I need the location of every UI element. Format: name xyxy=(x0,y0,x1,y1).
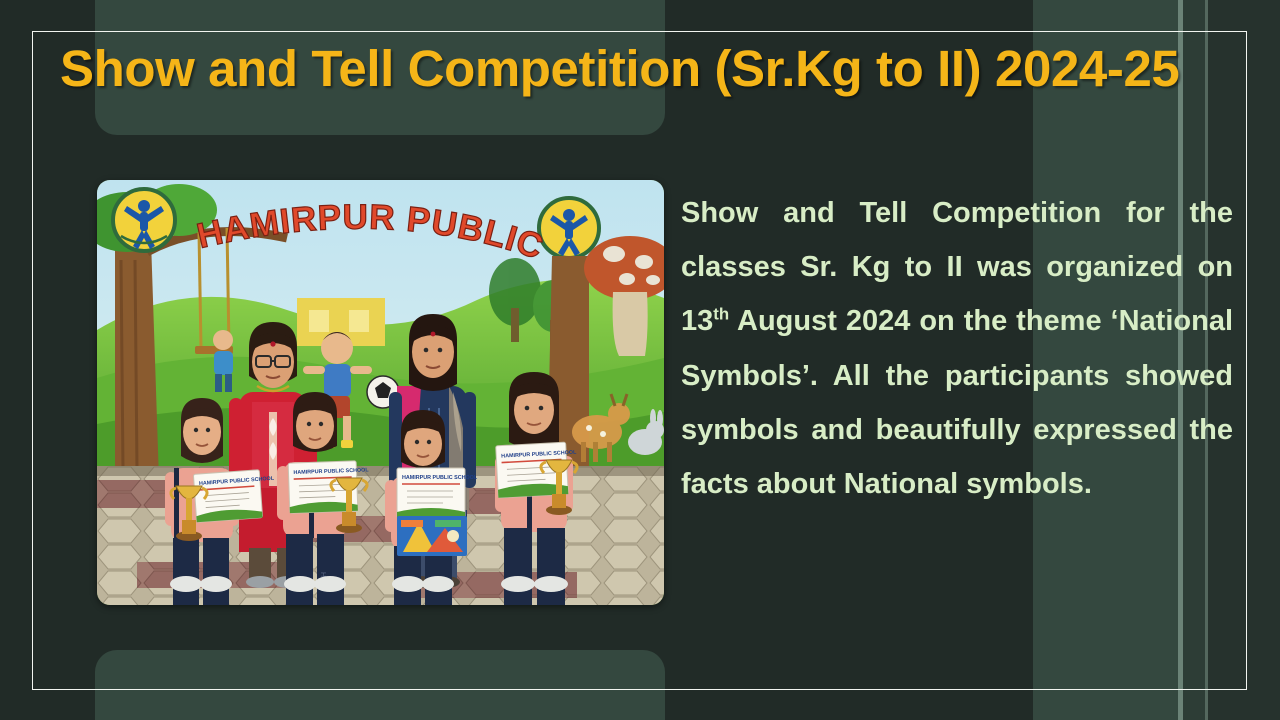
school-logo-left xyxy=(113,189,175,251)
page-title: Show and Tell Competition (Sr.Kg to II) … xyxy=(60,40,1230,99)
event-photo-illustration: HAMIRPUR PUBLIC SCHOOL xyxy=(97,180,664,605)
event-photo: HAMIRPUR PUBLIC SCHOOL xyxy=(97,180,664,605)
svg-text:HAMIRPUR PUBLIC SCHOOL: HAMIRPUR PUBLIC SCHOOL xyxy=(402,475,478,481)
ordinal-suffix: th xyxy=(713,305,729,324)
project-chart xyxy=(397,516,467,556)
slide-canvas: Show and Tell Competition (Sr.Kg to II) … xyxy=(0,0,1280,720)
description-part-2: August 2024 on the theme ‘National Symbo… xyxy=(681,305,1233,500)
event-description: Show and Tell Competition for the classe… xyxy=(681,186,1233,511)
decorative-panel-bottom xyxy=(95,650,665,720)
certificate-4: HAMIRPUR PUBLIC SCHOOL xyxy=(496,442,579,498)
